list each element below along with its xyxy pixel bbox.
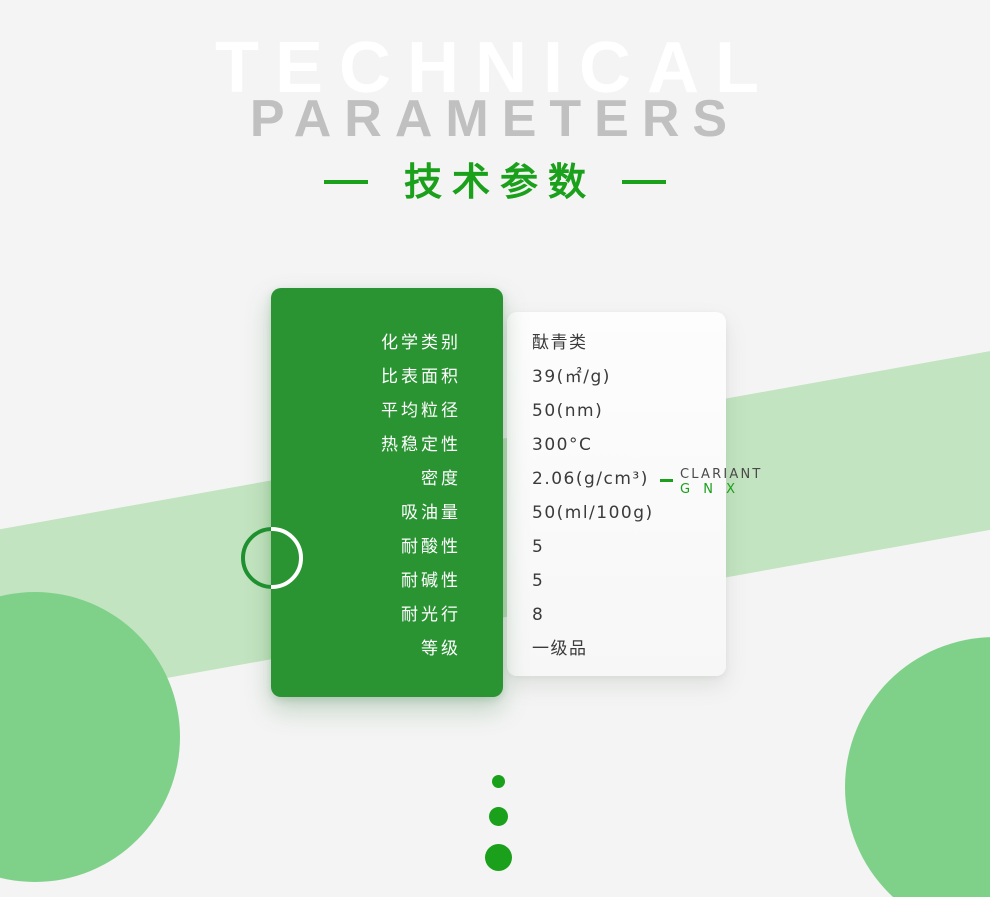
parameter-label: 比表面积 bbox=[271, 360, 461, 394]
parameter-value: 5 bbox=[532, 530, 732, 564]
brand-mark: CLARIANT G N X bbox=[660, 468, 763, 496]
parameter-value: 300°C bbox=[532, 428, 732, 462]
brand-subname: G N X bbox=[680, 483, 763, 497]
dash-right-icon bbox=[622, 180, 666, 184]
parameter-label: 耐光行 bbox=[271, 598, 461, 632]
page-root: TECHNICAL PARAMETERS 技术参数 化学类别 比表面积 平均粒径… bbox=[0, 0, 990, 897]
title-english-sub: PARAMETERS bbox=[0, 93, 990, 145]
dash-left-icon bbox=[324, 180, 368, 184]
circle-left-shape bbox=[0, 592, 180, 882]
dot-indicator-group bbox=[478, 775, 518, 871]
brand-text: CLARIANT G N X bbox=[680, 468, 763, 496]
parameter-value: 5 bbox=[532, 564, 732, 598]
parameter-value: 8 bbox=[532, 598, 732, 632]
parameter-label: 吸油量 bbox=[271, 496, 461, 530]
parameter-value: 一级品 bbox=[532, 632, 732, 666]
dot-large-icon bbox=[485, 844, 512, 871]
parameter-label: 热稳定性 bbox=[271, 428, 461, 462]
ring-circle-white-half-icon bbox=[271, 527, 305, 589]
title-chinese-row: 技术参数 bbox=[0, 163, 990, 201]
parameter-value: 50(ml/100g) bbox=[532, 496, 732, 530]
parameter-value: 酞青类 bbox=[532, 326, 732, 360]
parameter-label: 平均粒径 bbox=[271, 394, 461, 428]
dot-small-icon bbox=[492, 775, 505, 788]
dot-medium-icon bbox=[489, 807, 508, 826]
title-chinese: 技术参数 bbox=[394, 163, 596, 201]
parameter-label: 等级 bbox=[271, 632, 461, 666]
circle-right-shape bbox=[845, 637, 990, 897]
parameter-label: 密度 bbox=[271, 462, 461, 496]
parameter-label: 化学类别 bbox=[271, 326, 461, 360]
brand-dash-icon bbox=[660, 479, 673, 482]
parameter-value: 50(nm) bbox=[532, 394, 732, 428]
parameter-label-column: 化学类别 比表面积 平均粒径 热稳定性 密度 吸油量 耐酸性 耐碱性 耐光行 等… bbox=[271, 326, 461, 666]
parameter-value: 39(㎡/g) bbox=[532, 360, 732, 394]
brand-name: CLARIANT bbox=[680, 468, 763, 482]
